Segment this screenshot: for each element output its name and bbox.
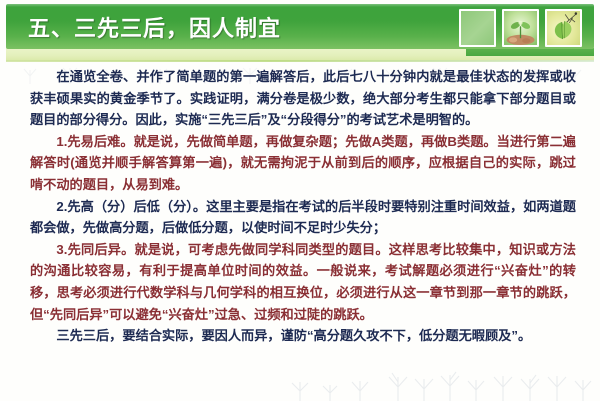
paragraph-item-3: 3.先同后异。就是说，可考虑先做同学科同类型的题目。这样思考比较集中，知识或方法…	[30, 239, 576, 325]
seedling-sprout-photo	[502, 9, 539, 47]
paragraph-closing: 三先三后，要结合实际，要因人而异，谨防“高分题久攻不下，低分题无暇顾及”。	[30, 325, 576, 347]
paragraph-intro: 在通览全卷、并作了简单题的第一遍解答后，此后七八十分钟内就是最佳状态的发挥或收获…	[30, 66, 576, 131]
slide-header: 五、三先三后，因人制宜	[6, 4, 594, 60]
leaves-dragonfly-photo	[545, 9, 582, 47]
header-underline	[6, 60, 594, 62]
header-shelf-step	[466, 48, 594, 56]
plain-green-swatch-icon	[459, 9, 496, 47]
grass-watermark-bottom	[0, 349, 600, 401]
paragraph-item-1: 1.先易后难。就是说，先做简单题，再做复杂题；先做A类题，再做B类题。当进行第二…	[30, 131, 576, 196]
slide-canvas: 五、三先三后，因人制宜	[0, 0, 600, 401]
page-title: 五、三先三后，因人制宜	[28, 11, 281, 43]
paragraph-item-2: 2.先高（分）后低（分）。这里主要是指在考试的后半段时要特别注重时间效益，如两道…	[30, 196, 576, 239]
header-thumbnail-strip	[459, 9, 582, 47]
slide-body: 在通览全卷、并作了简单题的第一遍解答后，此后七八十分钟内就是最佳状态的发挥或收获…	[30, 66, 576, 347]
